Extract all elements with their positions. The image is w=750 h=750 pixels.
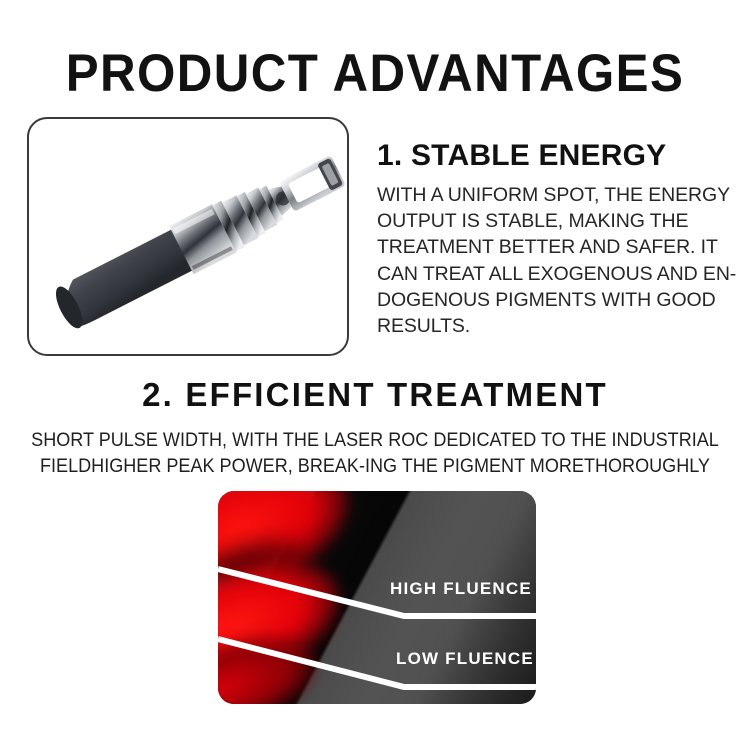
laser-handpiece-photo <box>29 119 347 354</box>
section-2-body: SHORT PULSE WIDTH, WITH THE LASER ROC DE… <box>0 428 750 479</box>
page-title: PRODUCT ADVANTAGES <box>26 46 724 102</box>
section-1-body-line: WITH A UNIFORM SPOT, THE ENERGY <box>377 182 727 208</box>
section-2-heading: 2. EFFICIENT TREATMENT <box>0 376 750 414</box>
section-1-body-line: RESULTS. <box>377 313 727 339</box>
section-1-body-line: DOGENOUS PIGMENTS WITH GOOD <box>377 287 727 313</box>
product-photo-frame <box>27 117 349 356</box>
section-2-body-line: SHORT PULSE WIDTH, WITH THE LASER ROC DE… <box>19 428 732 454</box>
section-1-heading: 1. STABLE ENERGY <box>377 139 737 173</box>
section-1-body: WITH A UNIFORM SPOT, THE ENERGY OUTPUT I… <box>377 182 727 339</box>
section-1-body-line: CAN TREAT ALL EXOGENOUS AND EN- <box>377 261 727 287</box>
section-1-body-line: OUTPUT IS STABLE, MAKING THE <box>377 208 727 234</box>
high-fluence-label: HIGH FLUENCE <box>390 579 532 599</box>
fluence-comparison-figure: HIGH FLUENCE LOW FLUENCE <box>218 491 536 704</box>
section-2-body-line: FIELDHIGHER PEAK POWER, BREAK-ING THE PI… <box>19 454 732 480</box>
section-1-body-line: TREATMENT BETTER AND SAFER. IT <box>377 234 727 260</box>
low-fluence-label: LOW FLUENCE <box>396 649 534 669</box>
